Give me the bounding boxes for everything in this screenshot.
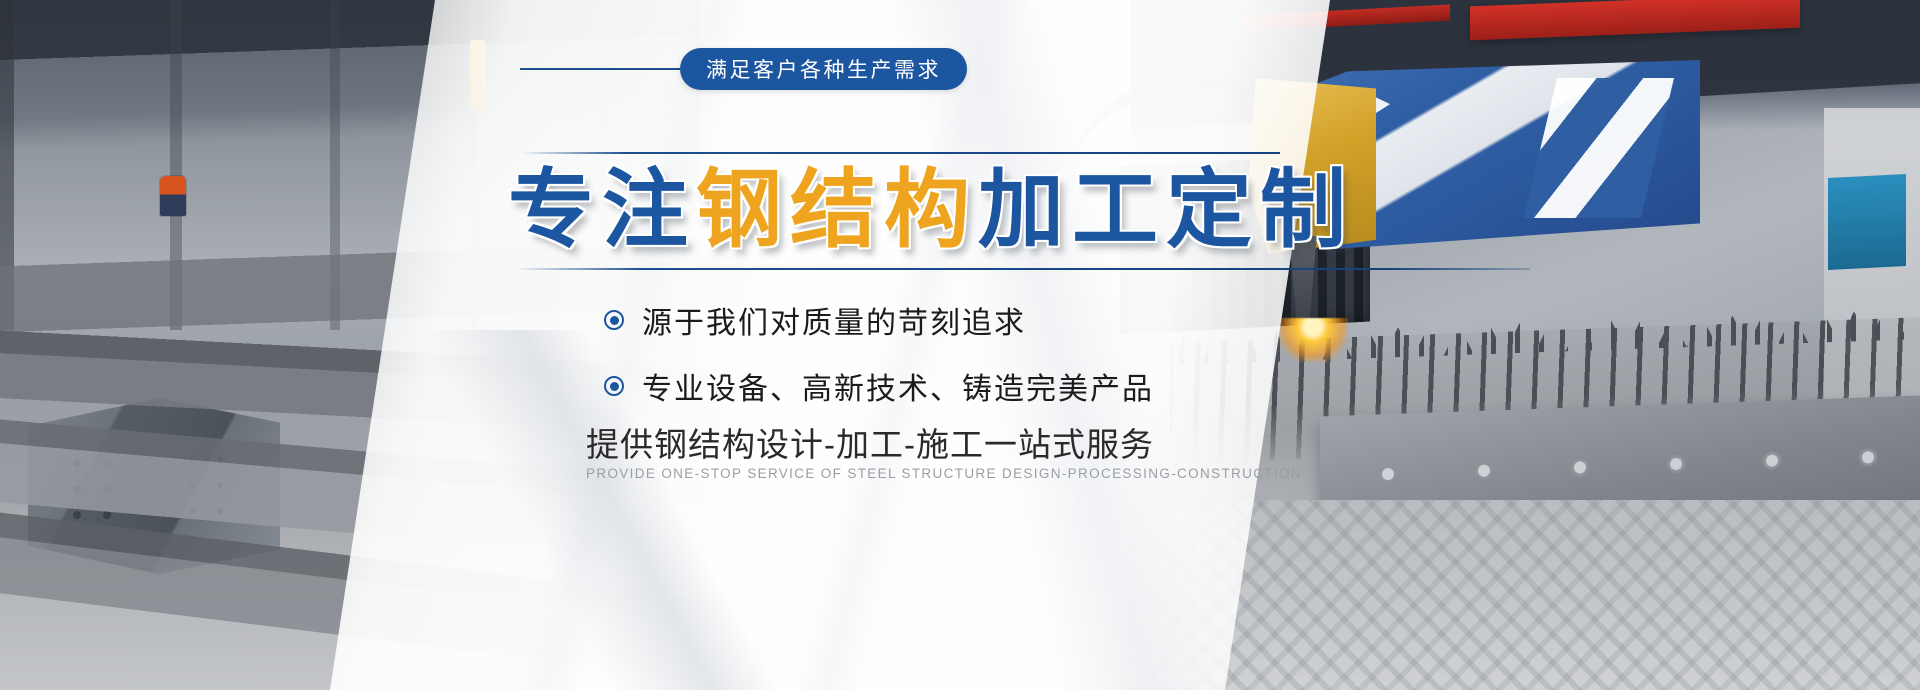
headline-rule-bottom (520, 268, 1530, 270)
badge-row: 满足客户各种生产需求 (520, 48, 967, 90)
hero-banner: 满足客户各种生产需求 专注钢结构加工定制 源于我们对质量的苛刻追求 专业设备、高… (0, 0, 1920, 690)
slogan-en: PROVIDE ONE-STOP SERVICE OF STEEL STRUCT… (586, 466, 1302, 481)
headline-part-1: 专注 (508, 160, 696, 260)
page-title: 专注钢结构加工定制 (508, 162, 1354, 258)
banner-content: 满足客户各种生产需求 专注钢结构加工定制 源于我们对质量的苛刻追求 专业设备、高… (0, 0, 1920, 690)
tagline-badge: 满足客户各种生产需求 (680, 48, 967, 90)
feature-list: 源于我们对质量的苛刻追求 专业设备、高新技术、铸造完美产品 (604, 276, 1154, 408)
headline-rule-top (520, 152, 1280, 154)
bullet-dot-icon (604, 310, 624, 330)
badge-leading-rule (520, 68, 680, 70)
list-item-label: 源于我们对质量的苛刻追求 (642, 298, 1026, 342)
slogan-cn: 提供钢结构设计-加工-施工一站式服务 (586, 418, 1154, 466)
list-item-label: 专业设备、高新技术、铸造完美产品 (642, 364, 1154, 408)
list-item: 专业设备、高新技术、铸造完美产品 (604, 364, 1154, 408)
headline-part-3: 加工定制 (978, 160, 1354, 260)
headline-part-2: 钢结构 (696, 160, 978, 260)
bullet-dot-icon (604, 376, 624, 396)
list-item: 源于我们对质量的苛刻追求 (604, 298, 1154, 342)
